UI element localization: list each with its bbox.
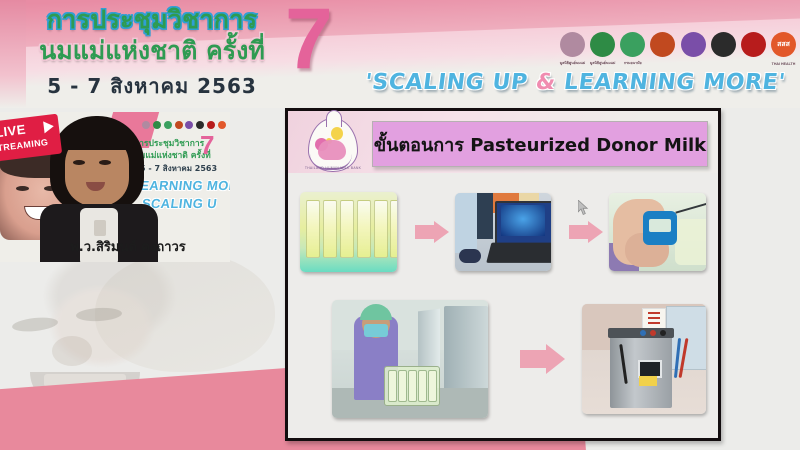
speaker-eye-right xyxy=(99,160,111,165)
pasteurizer-label xyxy=(639,376,657,386)
child-eye-left xyxy=(16,186,29,191)
arrow-head xyxy=(434,221,449,243)
arrow-shaft xyxy=(520,350,548,368)
thaihealth-sss-logo: สสสTHAI HEALTH xyxy=(771,32,796,57)
speaker-name-caption: พ.ว.สิริมนต์ คงถาวร xyxy=(18,236,238,257)
arrow-shaft xyxy=(415,225,435,239)
laptop-keyboard xyxy=(486,243,551,263)
logo-caption: มูลนิธิศูนย์นมแม่ xyxy=(560,60,586,66)
milk-bottle xyxy=(418,370,427,402)
speaker-eye-left xyxy=(73,160,85,165)
slogan-suffix: LEARNING MORE' xyxy=(554,70,787,95)
conference-slogan: 'SCALING UP & LEARNING MORE' xyxy=(363,70,794,95)
logo-caption: THAI HEALTH xyxy=(772,62,796,66)
milk-bottle xyxy=(388,370,397,402)
logo-caption: มูลนิธิศูนย์นมแม่ xyxy=(590,60,616,66)
poster-logo-8 xyxy=(218,121,226,129)
poster-edition-number: 7 xyxy=(200,132,214,158)
conference-title-line1: การประชุมวิชาการ xyxy=(18,4,286,35)
presentation-slide: การประชุมวิชาการ นมแม่แห่งชาติ ครั้งที่ … xyxy=(0,0,800,450)
process-row-2 xyxy=(332,297,706,421)
poster-logo-4 xyxy=(175,121,183,129)
arrow-right-1 xyxy=(415,225,435,239)
milk-bottle xyxy=(408,370,417,402)
control-knob-dark xyxy=(660,330,666,336)
milk-drop-highlight xyxy=(331,127,343,140)
photo-laptop-record-keeping xyxy=(455,193,552,271)
slide-header: การประชุมวิชาการ นมแม่แห่งชาติ ครั้งที่ … xyxy=(0,0,800,108)
human-milk-bank-drop-logo: THAILAND HUMAN MILK BANK xyxy=(300,116,366,178)
arrow-right-2 xyxy=(569,225,589,239)
slogan-prefix: 'SCALING UP xyxy=(363,70,537,95)
control-knob-blue xyxy=(640,330,646,336)
arrow-head xyxy=(546,344,565,374)
arrow-head xyxy=(588,221,603,243)
poster-logo-2 xyxy=(153,121,161,129)
arrow-right-3 xyxy=(520,350,548,368)
breastfeeding-foundation-logo: มูลนิธิศูนย์นมแม่ xyxy=(590,32,615,57)
surgical-mask xyxy=(364,324,388,337)
milk-bags xyxy=(675,219,706,265)
logo-caption: THAILAND HUMAN MILK BANK xyxy=(301,166,365,170)
logo-caption: กรมอนามัย xyxy=(624,60,642,66)
control-knob-red xyxy=(650,330,656,336)
poster-logo-5 xyxy=(185,121,193,129)
conference-title-line2: นมแม่แห่งชาติ ครั้งที่ xyxy=(12,35,292,66)
photo-milk-bottle-racks xyxy=(300,192,397,272)
process-row-1 xyxy=(300,189,706,275)
sponsor-logo-row: มูลนิธิศูนย์นมแม่มูลนิธิศูนย์นมแม่กรมอนา… xyxy=(560,26,796,62)
live-label: LIVE xyxy=(0,122,27,141)
watermark-hat xyxy=(95,252,275,372)
watermark-nose xyxy=(52,336,92,366)
poster-logo-3 xyxy=(164,121,172,129)
poster-logo-row xyxy=(142,121,226,130)
arrow-shaft xyxy=(569,225,589,239)
computer-mouse xyxy=(459,249,481,263)
panel-title-text: ขั้นตอนการ Pasteurized Donor Milk xyxy=(374,130,706,159)
play-triangle-icon xyxy=(43,120,54,133)
speaker-fringe xyxy=(60,124,134,150)
university-seal-logo xyxy=(711,32,736,57)
edition-number: 7 xyxy=(285,0,333,82)
milk-bottle xyxy=(428,370,437,402)
content-panel: THAILAND HUMAN MILK BANK ขั้นตอนการ Past… xyxy=(285,108,721,441)
ministry-of-health-logo: กรมอนามัย xyxy=(620,32,645,57)
hospital-seal-logo xyxy=(741,32,766,57)
mouse-pointer xyxy=(578,200,589,216)
photo-pasteurizer-machine xyxy=(582,304,706,414)
royal-patronage-logo: มูลนิธิศูนย์นมแม่ xyxy=(560,32,585,57)
poster-logo-6 xyxy=(196,121,204,129)
probe-wire xyxy=(676,202,706,213)
royal-college-logo xyxy=(681,32,706,57)
poster-logo-7 xyxy=(207,121,215,129)
streaming-label: STREAMING xyxy=(0,137,49,154)
panel-title-bar: ขั้นตอนการ Pasteurized Donor Milk xyxy=(372,121,708,167)
photo2-wall-left xyxy=(455,193,477,253)
milk-bottle xyxy=(398,370,407,402)
conference-dates: 5 - 7 สิงหาคม 2563 xyxy=(18,70,286,102)
photo-nurse-loading-pasteurizer xyxy=(332,300,488,418)
speaker-collar xyxy=(94,220,106,236)
photo-temperature-probe xyxy=(609,193,706,271)
logger-display xyxy=(649,219,671,232)
laptop-screen xyxy=(501,205,545,236)
photo2-shelf xyxy=(477,193,493,239)
department-seal-logo xyxy=(650,32,675,57)
